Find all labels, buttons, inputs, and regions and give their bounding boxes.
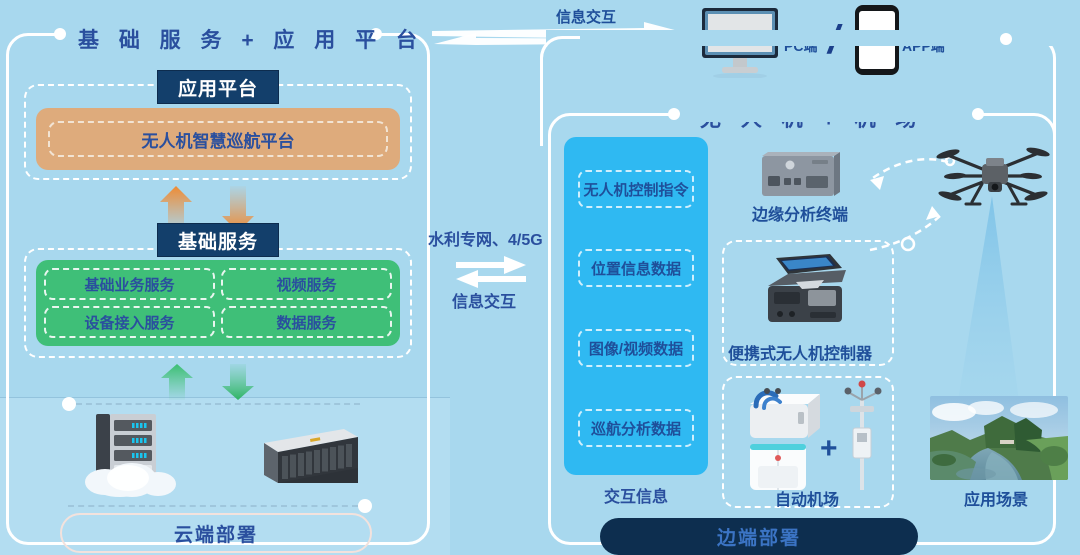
network-type-label: 水利专网、4/5G [428,226,543,250]
arrow-down-icon [222,364,254,400]
service-cell-basic-business[interactable]: 基础业务服务 [44,268,215,300]
dock-plus-sign: + [820,432,838,466]
edge-deployment-bar[interactable]: 边端部署 [600,518,918,555]
service-cell-device-access[interactable]: 设备接入服务 [44,306,215,338]
basic-services-label: 基础服务 [157,223,279,257]
network-exchange-label: 信息交互 [452,288,516,312]
portable-controller-case-icon[interactable] [760,252,852,332]
weather-sensor-pole-icon[interactable] [840,380,886,494]
cloud-divider-dot-right [358,499,372,513]
double-arrow-horizontal-icon [456,256,526,288]
interaction-item-patrol-analysis-data[interactable]: 巡航分析数据 [578,409,694,447]
server-rack-cloud-icon [72,412,184,497]
camera-beam-cone [930,196,1050,426]
portable-controller-label: 便携式无人机控制器 [728,340,872,364]
right-main-dot-left [668,108,680,120]
river-scenery-photo [930,396,1068,480]
left-frame-dot-left [54,28,66,40]
interaction-info-caption: 交互信息 [564,484,708,506]
interaction-item-image-video-data[interactable]: 图像/视频数据 [578,329,694,367]
service-cell-video[interactable]: 视频服务 [221,268,392,300]
interaction-item-control-command[interactable]: 无人机控制指令 [578,170,694,208]
right-main-frame-gap [676,106,980,122]
left-panel-title: 基 础 服 务 + 应 用 平 台 [78,24,358,54]
architecture-diagram: 基 础 服 务 + 应 用 平 台 应用平台 无人机智慧巡航平台 基础服务 基础… [0,0,1080,555]
service-cell-data[interactable]: 数据服务 [221,306,392,338]
cloud-band-divider-top [76,403,360,405]
right-top-frame-dot [1000,33,1012,45]
cloud-deployment-capsule[interactable]: 云端部署 [60,513,372,553]
cloud-band-divider-bottom [68,505,358,507]
basic-services-box: 基础业务服务 视频服务 设备接入服务 数据服务 [36,260,400,346]
interaction-info-box: 无人机控制指令 位置信息数据 图像/视频数据 巡航分析数据 [564,137,708,475]
smart-patrol-platform-item[interactable]: 无人机智慧巡航平台 [48,121,388,157]
drone-dock-icon[interactable] [736,382,826,494]
storage-array-icon [252,425,360,487]
cloud-divider-dot-left [62,397,76,411]
application-platform-box: 无人机智慧巡航平台 [36,108,400,170]
interaction-item-position-data[interactable]: 位置信息数据 [578,249,694,287]
arrow-up-icon [161,364,193,400]
right-main-dot-right [972,108,984,120]
services-cloud-arrows [160,364,270,400]
automatic-dock-label: 自动机场 [775,486,839,510]
right-top-frame-gap [546,30,1056,46]
application-scene-label: 应用场景 [964,486,1028,510]
application-platform-label: 应用平台 [157,70,279,104]
